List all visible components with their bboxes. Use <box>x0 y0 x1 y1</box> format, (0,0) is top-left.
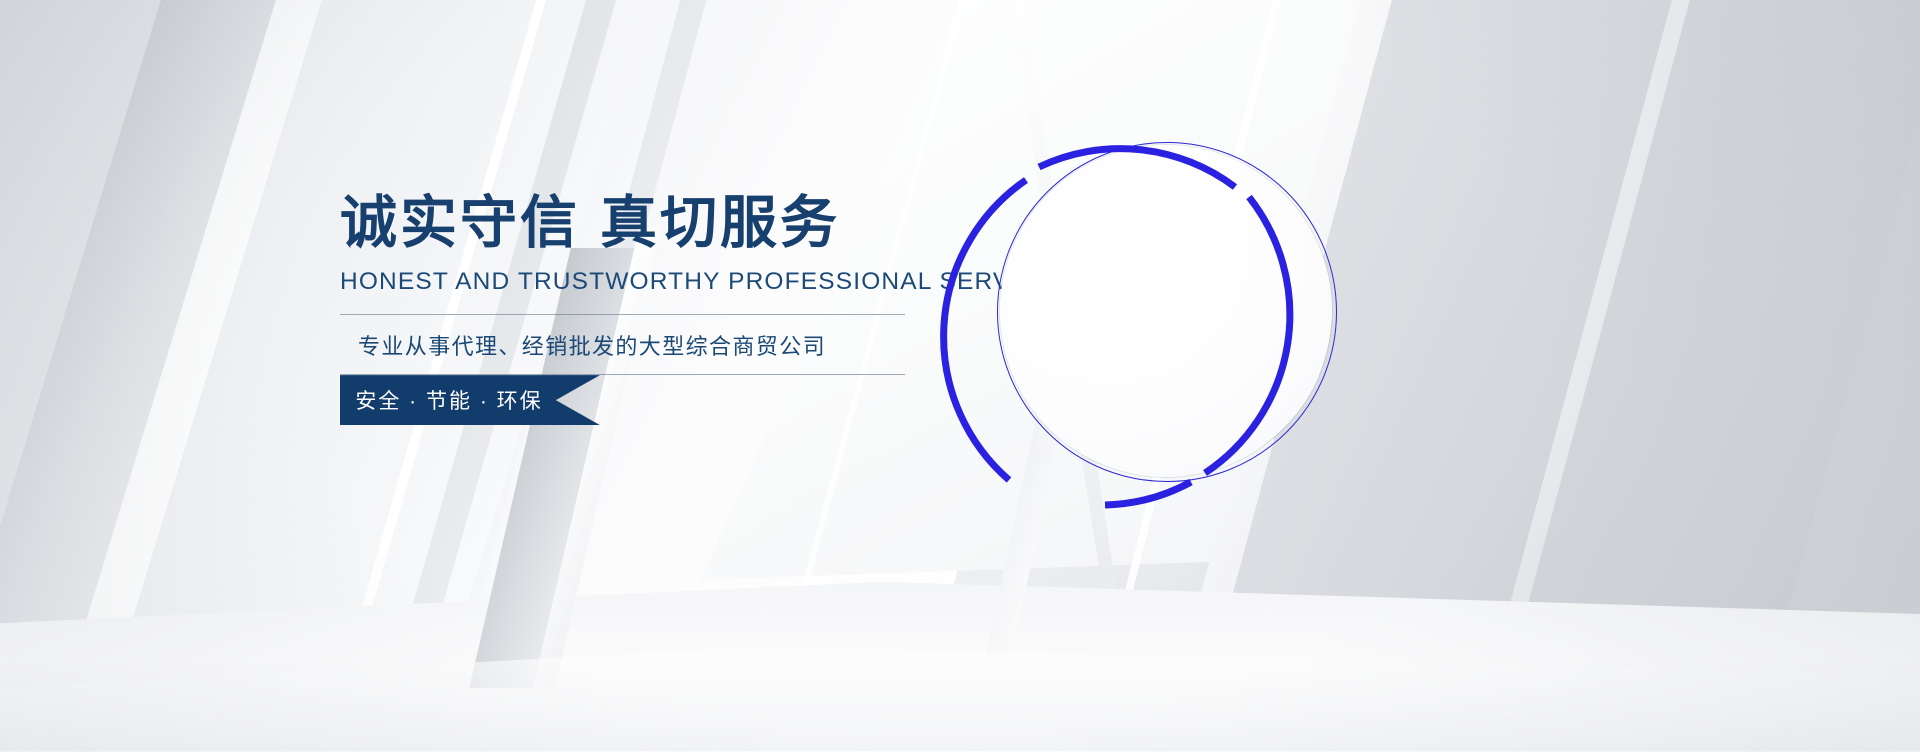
headline-part-2: 真切服务 <box>600 191 840 255</box>
feature-tag-label: 安全 · 节能 · 环保 <box>340 375 558 425</box>
page-title: 诚实守信真切服务 <box>340 190 960 256</box>
description-text: 专业从事代理、经销批发的大型综合商贸公司 <box>340 315 905 374</box>
feature-tag: 安全 · 节能 · 环保 <box>340 375 600 425</box>
headline-part-1: 诚实守信 <box>340 191 580 255</box>
hero-banner: 诚实守信真切服务 HONEST AND TRUSTWORTHY PROFESSI… <box>0 0 1920 752</box>
divider-top <box>340 314 905 315</box>
subtitle-english: HONEST AND TRUSTWORTHY PROFESSIONAL SERV… <box>340 268 960 296</box>
circle-accent-arcs <box>905 105 1375 535</box>
description-block: 专业从事代理、经销批发的大型综合商贸公司 <box>340 314 905 375</box>
hero-text-block: 诚实守信真切服务 HONEST AND TRUSTWORTHY PROFESSI… <box>340 190 960 425</box>
